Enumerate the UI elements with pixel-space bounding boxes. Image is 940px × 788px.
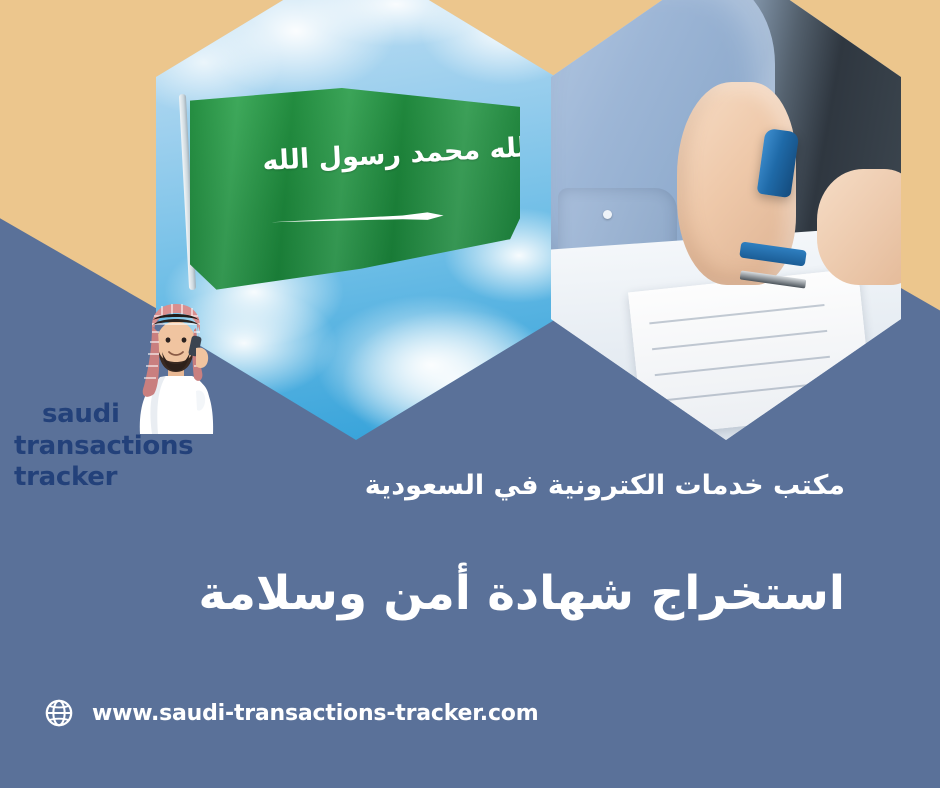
headline-text: استخراج شهادة أمن وسلامة: [60, 566, 845, 621]
footer-url-group[interactable]: www.saudi-transactions-tracker.com: [44, 698, 538, 728]
brand-line-1: saudi: [0, 399, 280, 431]
saudi-flag-cloth: لا إله إلا الله محمد رسول الله: [190, 88, 520, 298]
sword-emblem: [269, 211, 447, 226]
website-url[interactable]: www.saudi-transactions-tracker.com: [92, 701, 538, 726]
poster-canvas: لا إله إلا الله محمد رسول الله: [0, 0, 940, 788]
globe-icon: [44, 698, 74, 728]
flag-group: لا إله إلا الله محمد رسول الله: [156, 88, 556, 318]
subtitle-text: مكتب خدمات الكترونية في السعودية: [60, 470, 845, 501]
shahada-inscription: لا إله إلا الله محمد رسول الله: [261, 138, 455, 203]
supporting-hand: [817, 169, 901, 285]
